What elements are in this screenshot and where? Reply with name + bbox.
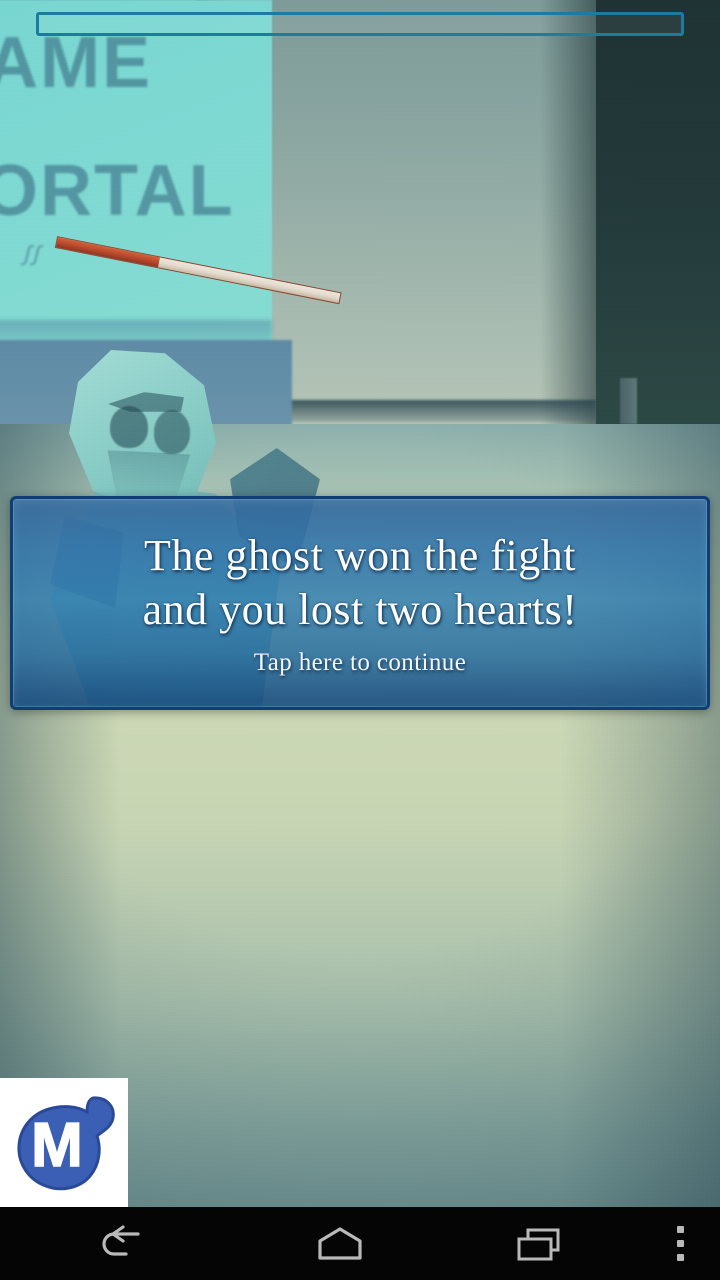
dot bbox=[677, 1254, 684, 1261]
poster-title-line-2: ORTAL bbox=[0, 150, 235, 232]
back-button[interactable] bbox=[0, 1207, 240, 1280]
wall-object bbox=[620, 378, 637, 424]
message-dialog[interactable]: The ghost won the fight and you lost two… bbox=[10, 496, 710, 710]
app-logo-letter: M bbox=[31, 1111, 83, 1180]
home-button[interactable] bbox=[240, 1207, 440, 1280]
back-arrow-icon bbox=[96, 1224, 144, 1264]
android-navigation-bar bbox=[0, 1207, 720, 1280]
ghost-eye-left bbox=[110, 406, 148, 448]
energy-bar bbox=[36, 12, 684, 36]
phone-screen: AME ORTAL ꭍꭍ The g bbox=[0, 0, 720, 1280]
dialog-message-line-2: and you lost two hearts! bbox=[143, 583, 578, 637]
app-logo-icon: M bbox=[5, 1084, 123, 1202]
corridor-dark-area bbox=[588, 0, 720, 448]
home-icon bbox=[314, 1224, 366, 1264]
game-viewport[interactable]: AME ORTAL ꭍꭍ The g bbox=[0, 0, 720, 1207]
wall-shadow-right bbox=[540, 0, 596, 424]
dialog-continue-hint: Tap here to continue bbox=[254, 649, 466, 677]
poster-scribble-text: ꭍꭍ bbox=[20, 248, 90, 302]
recents-icon bbox=[514, 1224, 566, 1264]
dialog-message-line-1: The ghost won the fight bbox=[144, 529, 576, 583]
app-logo-badge[interactable]: M bbox=[0, 1078, 128, 1207]
overflow-menu-button[interactable] bbox=[640, 1207, 720, 1280]
ghost-eye-right bbox=[154, 410, 190, 454]
recent-apps-button[interactable] bbox=[440, 1207, 640, 1280]
dot bbox=[677, 1226, 684, 1233]
dot bbox=[677, 1240, 684, 1247]
three-dots-icon bbox=[677, 1223, 684, 1265]
